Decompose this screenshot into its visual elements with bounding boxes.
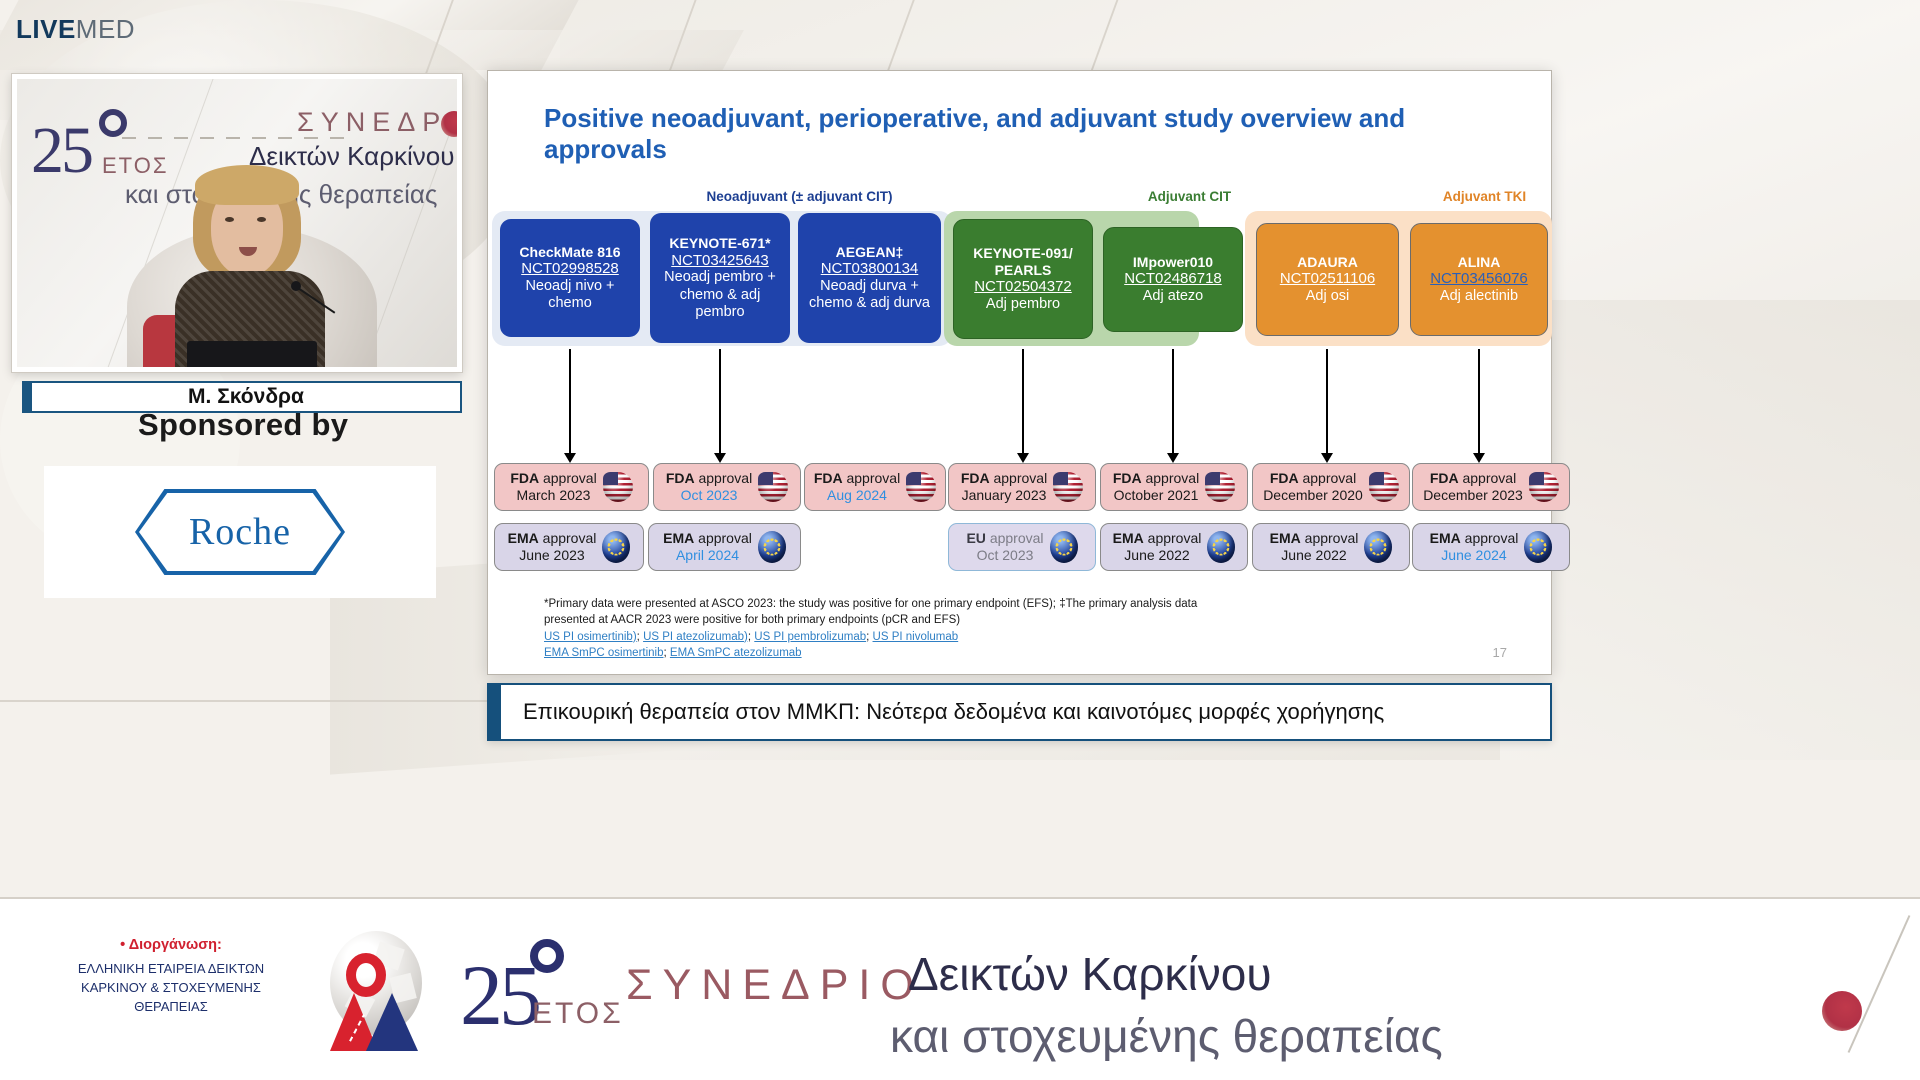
ema-date: June 2022	[1281, 547, 1346, 563]
study-description: Neoadj durva + chemo & adj durva	[804, 278, 935, 312]
fda-approval-pill-keynote091[interactable]: FDA approval January 2023	[948, 463, 1096, 511]
study-name: ADAURA	[1297, 254, 1358, 271]
link-ema-smpc-atezolizumab[interactable]: EMA SmPC atezolizumab	[670, 647, 802, 659]
speaker-name: Μ. Σκόνδρα	[188, 385, 304, 409]
study-name: AEGEAN‡	[836, 244, 904, 261]
congress-globe-logo-icon	[318, 931, 426, 1053]
fda-approval-pill-checkmate816[interactable]: FDA approval March 2023	[494, 463, 649, 511]
backdrop-congress-word: ΣΥΝΕΔΡΙΟ	[297, 107, 462, 138]
link-us-pi-nivolumab[interactable]: US PI nivolumab	[873, 631, 959, 643]
study-box-alina[interactable]: ALINA NCT03456076 Adj alectinib	[1410, 223, 1548, 336]
group-header-adjuvant-cit: Adjuvant CIT	[1082, 189, 1297, 204]
footer-slash-line	[1848, 915, 1911, 1053]
slide-footnotes: *Primary data were presented at ASCO 202…	[544, 596, 1444, 661]
event-footer: • Διοργάνωση: ΕΛΛΗΝΙΚΗ ΕΤΑΙΡΕΙΑ ΔΕΙΚΤΩΝ …	[0, 897, 1920, 1080]
study-nct-link[interactable]: NCT03425643	[671, 252, 769, 270]
ema-agency-label: EMA	[663, 530, 694, 546]
study-name: KEYNOTE-091/ PEARLS	[960, 245, 1086, 278]
study-nct-link[interactable]: NCT03800134	[821, 260, 919, 278]
footer-degree-icon	[530, 939, 564, 973]
study-description: Adj osi	[1306, 288, 1350, 305]
logo-live-text: LIVE	[16, 14, 76, 44]
us-flag-icon	[1053, 472, 1083, 502]
ema-agency-label: EMA	[508, 530, 539, 546]
footer-year-word: ΕΤΟΣ	[532, 997, 624, 1031]
fda-agency-label: FDA	[814, 470, 843, 486]
fda-approval-pill-alina[interactable]: FDA approval December 2023	[1412, 463, 1570, 511]
footer-year-number: 25	[460, 945, 538, 1045]
organizer-label: • Διοργάνωση:	[46, 937, 296, 953]
ema-date: April 2024	[676, 547, 739, 563]
study-description: Adj atezo	[1143, 288, 1203, 305]
backdrop-degree-icon	[99, 109, 127, 137]
study-nct-link[interactable]: NCT02998528	[521, 260, 619, 278]
fda-date: Aug 2024	[827, 487, 887, 503]
study-nct-link[interactable]: NCT02504372	[974, 278, 1072, 296]
fda-approval-pill-aegean[interactable]: FDA approval Aug 2024	[804, 463, 946, 511]
eu-flag-icon	[758, 531, 786, 563]
footnote-line-2: presented at AACR 2023 were positive for…	[544, 612, 1444, 628]
sponsor-card: Roche	[44, 466, 436, 598]
fda-agency-label: FDA	[961, 470, 990, 486]
slide-title: Positive neoadjuvant, perioperative, and…	[544, 103, 1464, 164]
ema-agency-label: EMA	[1113, 530, 1144, 546]
fda-agency-label: FDA	[1270, 470, 1299, 486]
arrow-to-fda-6	[1326, 349, 1328, 454]
study-name: IMpower010	[1133, 254, 1213, 271]
study-box-keynote-091-pearls[interactable]: KEYNOTE-091/ PEARLS NCT02504372 Adj pemb…	[953, 219, 1093, 339]
ema-word: approval	[1465, 530, 1519, 546]
link-us-pi-pembrolizumab[interactable]: US PI pembrolizumab	[754, 631, 866, 643]
eu-flag-icon	[602, 531, 630, 563]
arrow-to-fda-4	[1022, 349, 1024, 454]
study-box-keynote-671[interactable]: KEYNOTE-671* NCT03425643 Neoadj pembro +…	[650, 213, 790, 343]
ema-agency-label: EMA	[1430, 530, 1461, 546]
fda-approval-pill-keynote671[interactable]: FDA approval Oct 2023	[653, 463, 801, 511]
eu-approval-pill-keynote091[interactable]: EU approval Oct 2023	[948, 523, 1096, 571]
fda-agency-label: FDA	[1113, 470, 1142, 486]
group-header-neoadjuvant: Neoadjuvant (± adjuvant CIT)	[627, 189, 972, 204]
eu-flag-icon	[1524, 531, 1552, 563]
ema-word: approval	[1305, 530, 1359, 546]
speaker-video-panel[interactable]: 25 ΕΤΟΣ ΣΥΝΕΔΡΙΟ Δεικτών Καρκίνου και στ…	[12, 74, 462, 372]
group-header-adjuvant-tki: Adjuvant TKI	[1377, 189, 1592, 204]
study-nct-link[interactable]: NCT03456076	[1430, 270, 1528, 288]
ema-agency-label: EMA	[1270, 530, 1301, 546]
livemed-logo: LIVEMED	[16, 14, 135, 45]
arrow-to-fda-2	[719, 349, 721, 454]
fda-date: October 2021	[1114, 487, 1199, 503]
footer-title-line1: Δεικτών Καρκίνου	[908, 947, 1272, 1001]
us-flag-icon	[1205, 472, 1235, 502]
fda-date: March 2023	[517, 487, 591, 503]
ema-approval-pill-alina[interactable]: EMA approval June 2024	[1412, 523, 1570, 571]
study-box-aegean[interactable]: AEGEAN‡ NCT03800134 Neoadj durva + chemo…	[798, 213, 941, 343]
ema-date: June 2022	[1124, 547, 1189, 563]
us-flag-icon	[1529, 472, 1559, 502]
footnote-links-row-2: EMA SmPC osimertinib; EMA SmPC atezolizu…	[544, 645, 1444, 661]
study-description: Adj alectinib	[1440, 288, 1518, 305]
study-description: Neoadj nivo + chemo	[506, 278, 634, 312]
fda-word: approval	[1302, 470, 1356, 486]
fda-word: approval	[993, 470, 1047, 486]
eu-flag-icon	[1050, 531, 1078, 563]
arrow-to-fda-5	[1172, 349, 1174, 454]
eu-flag-icon	[1207, 531, 1235, 563]
study-name: ALINA	[1458, 254, 1501, 271]
study-description: Neoadj pembro + chemo & adj pembro	[656, 269, 784, 320]
fda-agency-label: FDA	[1430, 470, 1459, 486]
presentation-slide[interactable]: Positive neoadjuvant, perioperative, and…	[487, 70, 1552, 675]
fda-date: December 2020	[1263, 487, 1363, 503]
footnote-line-1: *Primary data were presented at ASCO 202…	[544, 596, 1444, 612]
eu-flag-icon	[1364, 531, 1392, 563]
fda-date: December 2023	[1423, 487, 1523, 503]
organizer-block: • Διοργάνωση: ΕΛΛΗΝΙΚΗ ΕΤΑΙΡΕΙΑ ΔΕΙΚΤΩΝ …	[46, 937, 296, 1017]
logo-med-text: MED	[76, 14, 135, 44]
footer-dot-icon	[1822, 991, 1862, 1031]
fda-word: approval	[1145, 470, 1199, 486]
us-flag-icon	[758, 472, 788, 502]
study-name: KEYNOTE-671*	[669, 235, 770, 252]
ema-approval-pill-checkmate816[interactable]: EMA approval June 2023	[494, 523, 644, 571]
fda-agency-label: FDA	[510, 470, 539, 486]
lecture-title: Επικουρική θεραπεία στον ΜΜΚΠ: Νεότερα δ…	[501, 699, 1384, 725]
study-box-impower010[interactable]: IMpower010 NCT02486718 Adj atezo	[1103, 227, 1243, 332]
ema-word: approval	[543, 530, 597, 546]
lecture-title-bar: Επικουρική θεραπεία στον ΜΜΚΠ: Νεότερα δ…	[487, 683, 1552, 741]
study-nct-link[interactable]: NCT02486718	[1124, 270, 1222, 288]
arrow-to-fda-7	[1478, 349, 1480, 454]
arrow-to-fda-1	[569, 349, 571, 454]
ema-date: June 2023	[519, 547, 584, 563]
organizer-name: ΕΛΛΗΝΙΚΗ ΕΤΑΙΡΕΙΑ ΔΕΙΚΤΩΝ ΚΑΡΚΙΝΟΥ & ΣΤΟ…	[46, 960, 296, 1017]
eu-word: approval	[990, 530, 1044, 546]
us-flag-icon	[603, 472, 633, 502]
link-ema-smpc-osimertinib[interactable]: EMA SmPC osimertinib	[544, 647, 664, 659]
fda-word: approval	[543, 470, 597, 486]
fda-word: approval	[846, 470, 900, 486]
eu-agency-label: EU	[966, 530, 985, 546]
roche-logo: Roche	[135, 489, 345, 575]
ema-approval-pill-keynote671[interactable]: EMA approval April 2024	[648, 523, 801, 571]
speaker-figure	[165, 165, 335, 372]
footnote-links-row-1: US PI osimertinib); US PI atezolizumab);…	[544, 629, 1444, 645]
ema-date: June 2024	[1441, 547, 1506, 563]
study-nct-link[interactable]: NCT02511106	[1280, 270, 1375, 288]
us-flag-icon	[1369, 472, 1399, 502]
ema-approval-pill-impower010[interactable]: EMA approval June 2022	[1100, 523, 1248, 571]
eu-date: Oct 2023	[977, 547, 1034, 563]
fda-agency-label: FDA	[666, 470, 695, 486]
sponsored-by-label: Sponsored by	[138, 407, 348, 443]
study-name: CheckMate 816	[519, 244, 620, 261]
backdrop-year-number: 25	[31, 113, 91, 189]
footer-congress-word: ΣΥΝΕΔΡΙΟ	[626, 961, 924, 1010]
fda-date: January 2023	[962, 487, 1047, 503]
backdrop-year-word: ΕΤΟΣ	[102, 153, 168, 179]
backdrop-dot-icon	[441, 111, 462, 137]
us-flag-icon	[906, 472, 936, 502]
ema-approval-pill-adaura[interactable]: EMA approval June 2022	[1252, 523, 1410, 571]
study-box-checkmate-816[interactable]: CheckMate 816 NCT02998528 Neoadj nivo + …	[500, 219, 640, 337]
link-us-pi-osimertinib[interactable]: US PI osimertinib)	[544, 631, 637, 643]
study-description: Adj pembro	[986, 296, 1060, 313]
ema-word: approval	[1148, 530, 1202, 546]
slide-page-number: 17	[1493, 645, 1507, 660]
roche-logo-text: Roche	[189, 510, 291, 554]
fda-word: approval	[1462, 470, 1516, 486]
study-box-adaura[interactable]: ADAURA NCT02511106 Adj osi	[1256, 223, 1399, 336]
footer-title-line2: και στοχευμένης θεραπείας	[890, 1009, 1443, 1063]
link-us-pi-atezolizumab[interactable]: US PI atezolizumab)	[643, 631, 748, 643]
fda-date: Oct 2023	[681, 487, 738, 503]
fda-word: approval	[698, 470, 752, 486]
fda-approval-pill-impower010[interactable]: FDA approval October 2021	[1100, 463, 1248, 511]
fda-approval-pill-adaura[interactable]: FDA approval December 2020	[1252, 463, 1410, 511]
ema-word: approval	[698, 530, 752, 546]
